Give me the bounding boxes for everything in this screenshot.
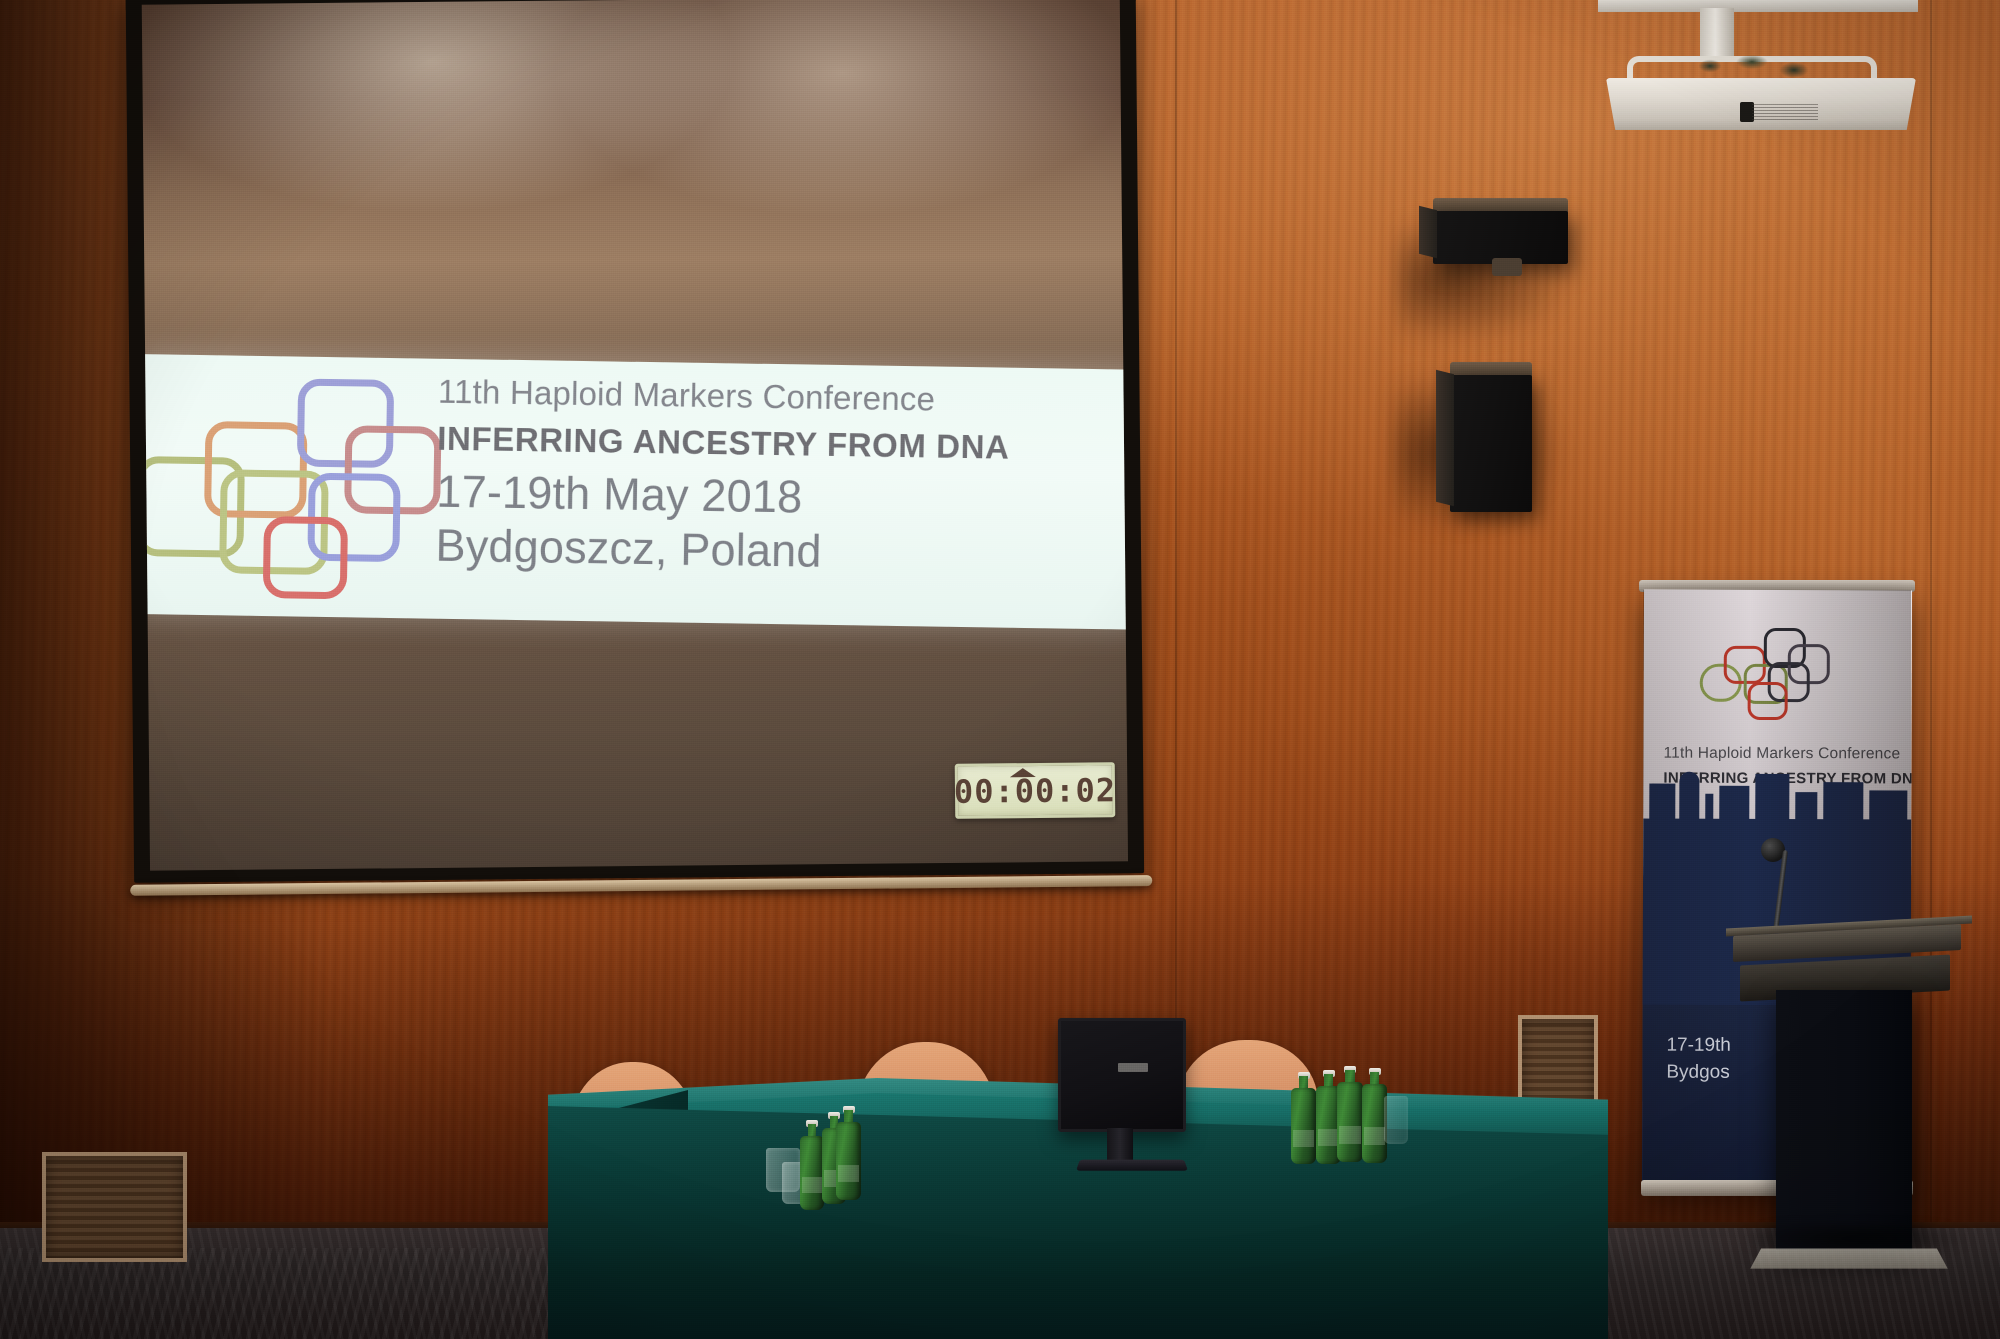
water-glass-3 [1384,1096,1408,1144]
banner-logo-squares [1702,620,1842,728]
water-bottle-left-3 [836,1106,861,1200]
speaker-podium [1776,990,1912,1250]
bottle-body [836,1122,861,1200]
wall-speaker-upper [1433,198,1568,264]
projector-ceiling-plate [1598,0,1918,12]
slide-white-band: 11th Haploid Markers Conference INFERRIN… [142,354,1128,630]
projector-label [1752,104,1818,120]
bottle-label [838,1165,859,1182]
speaker-mount-bracket [1492,258,1522,276]
monitor-stand-neck [1107,1128,1133,1162]
presenter-monitor [1058,1018,1186,1132]
speaker-side-panel [1436,370,1454,506]
screen-surface: 11th Haploid Markers Conference INFERRIN… [142,0,1128,871]
screen-border: 11th Haploid Markers Conference INFERRIN… [126,0,1144,883]
slide-dates: 17-19th May 2018 [436,466,1128,529]
slide-theme: INFERRING ANCESTRY FROM DNA [437,420,1128,469]
water-bottle-left-1 [800,1120,824,1210]
monitor-brand-badge [1118,1063,1148,1072]
banner-square-red-2 [1748,682,1788,720]
wall-vent-left [42,1152,187,1262]
table-cloth-skirt [548,1106,1608,1339]
bottle-body [800,1136,824,1210]
slide-logo-squares [155,378,428,597]
bottle-label [1364,1127,1385,1144]
banner-conference-name: 11th Haploid Markers Conference [1663,745,1903,764]
water-bottle-right-3 [1337,1066,1363,1162]
bottle-body [1337,1082,1363,1162]
bottle-body [1291,1088,1316,1164]
banner-city: Bydgos [1666,1062,1729,1084]
wall-panel-seam [1930,0,1932,1235]
wall-speaker-lower [1450,362,1532,512]
bottle-label [1293,1130,1314,1147]
speaker-side-panel [1419,206,1437,258]
speaker-grille [1433,211,1568,264]
slide-location: Bydgoszcz, Poland [435,520,1128,583]
conference-hall-scene: 11th Haploid Markers Conference INFERRIN… [0,0,2000,1339]
logo-square-red [263,516,348,599]
water-bottle-right-1 [1291,1072,1316,1164]
banner-dates: 17-19th [1666,1035,1731,1057]
bottle-label [802,1177,822,1193]
speaker-grille [1450,375,1532,512]
triangle-up-icon [1010,768,1036,777]
monitor-stand-base [1076,1160,1188,1171]
podium-floor-mat [1750,1249,1947,1269]
bottle-label [1318,1129,1339,1146]
countdown-timer[interactable]: 00:00:02 [955,762,1116,819]
slide-text-block: 11th Haploid Markers Conference INFERRIN… [435,373,1128,583]
bottle-label [1339,1126,1361,1144]
slide-conference-name: 11th Haploid Markers Conference [438,373,1128,422]
